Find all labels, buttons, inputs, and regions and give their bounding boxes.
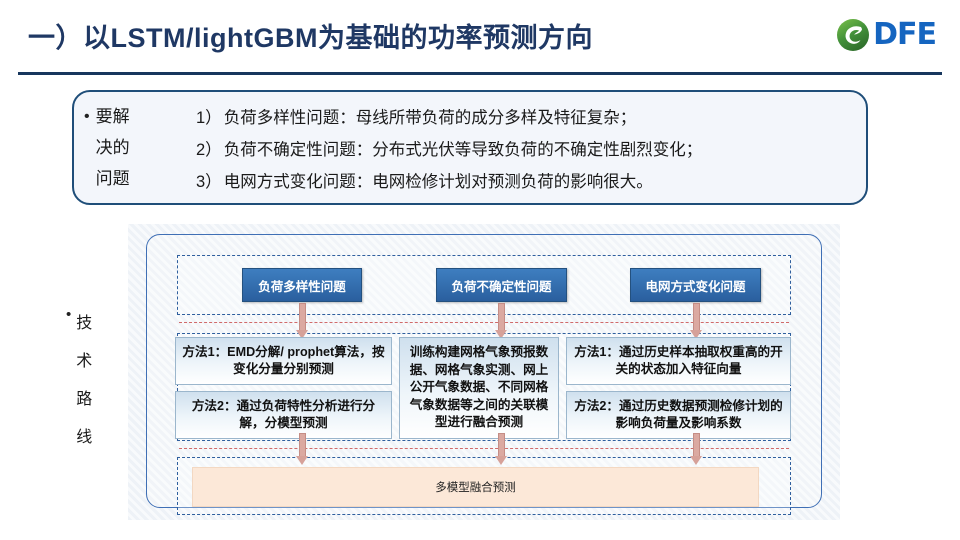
tech-route-characters: 技 术 路 线 [76,305,92,457]
arrow-down-icon [296,433,308,465]
arrow-down-icon [296,303,308,339]
method-box-col3-1[interactable]: 方法1：通过历史样本抽取权重高的开关的状态加入特征向量 [566,337,791,385]
list-item: 1）负荷多样性问题：母线所带负荷的成分多样及特征复杂； [196,102,860,134]
arrow-down-icon [495,303,507,339]
tech-route-diagram: 负荷多样性问题 负荷不确定性问题 电网方式变化问题 方法1：EMD分解/ pro… [128,224,840,520]
e-circle-icon [836,18,870,52]
arrow-down-icon [690,433,702,465]
list-item-number: 3） [196,173,222,191]
problem-box-diversity[interactable]: 负荷多样性问题 [242,268,362,302]
callout-list: 1）负荷多样性问题：母线所带负荷的成分多样及特征复杂； 2）负荷不确定性问题：分… [196,101,860,197]
list-item: 3）电网方式变化问题：电网检修计划对预测负荷的影响很大。 [196,166,860,198]
logo-text: DFE [873,20,936,50]
callout-label-line: 问题 [96,163,130,194]
dfe-logo: DFE [836,18,936,52]
problem-box-grid-mode[interactable]: 电网方式变化问题 [630,268,761,302]
problems-callout: • 要解 决的 问题 1）负荷多样性问题：母线所带负荷的成分多样及特征复杂； 2… [72,90,868,205]
slide-root: 一）以LSTM/lightGBM为基础的功率预测方向 DFE • [0,0,960,540]
bullet-icon: • [84,101,90,132]
list-item-number: 1） [196,109,222,127]
problem-box-uncertainty[interactable]: 负荷不确定性问题 [436,268,567,302]
list-item-text: 电网方式变化问题：电网检修计划对预测负荷的影响很大。 [224,173,653,191]
method-box-col3-2[interactable]: 方法2：通过历史数据预测检修计划的影响负荷量及影响系数 [566,391,791,439]
bullet-icon: • [66,305,71,325]
title-divider [18,72,942,75]
callout-label-line: 要解 [96,101,130,132]
callout-label: • 要解 决的 问题 [84,101,196,197]
method-box-col2-1[interactable]: 训练构建网格气象预报数据、网格气象实测、网上公开气象数据、不同网格气象数据等之间… [399,337,559,439]
fusion-box[interactable]: 多模型融合预测 [192,467,759,507]
list-item-text: 负荷多样性问题：母线所带负荷的成分多样及特征复杂； [224,109,637,127]
tech-route-char: 术 [76,343,92,381]
method-box-col1-2[interactable]: 方法2：通过负荷特性分析进行分解，分模型预测 [175,391,392,439]
list-item: 2）负荷不确定性问题：分布式光伏等导致负荷的不确定性剧烈变化； [196,134,860,166]
tech-route-char: 线 [76,419,92,457]
callout-label-text: 要解 决的 问题 [96,101,130,194]
list-item-text: 负荷不确定性问题：分布式光伏等导致负荷的不确定性剧烈变化； [224,141,703,159]
page-title: 一）以LSTM/lightGBM为基础的功率预测方向 [28,16,593,55]
method-box-col1-1[interactable]: 方法1：EMD分解/ prophet算法，按变化分量分别预测 [175,337,392,385]
callout-label-line: 决的 [96,132,130,163]
arrow-down-icon [690,303,702,339]
tech-route-char: 路 [76,381,92,419]
tech-route-char: 技 [76,305,92,343]
tech-route-label: • 技 术 路 线 [66,305,112,457]
arrow-down-icon [495,433,507,465]
diagram-frame: 负荷多样性问题 负荷不确定性问题 电网方式变化问题 方法1：EMD分解/ pro… [146,234,822,508]
list-item-number: 2） [196,141,222,159]
